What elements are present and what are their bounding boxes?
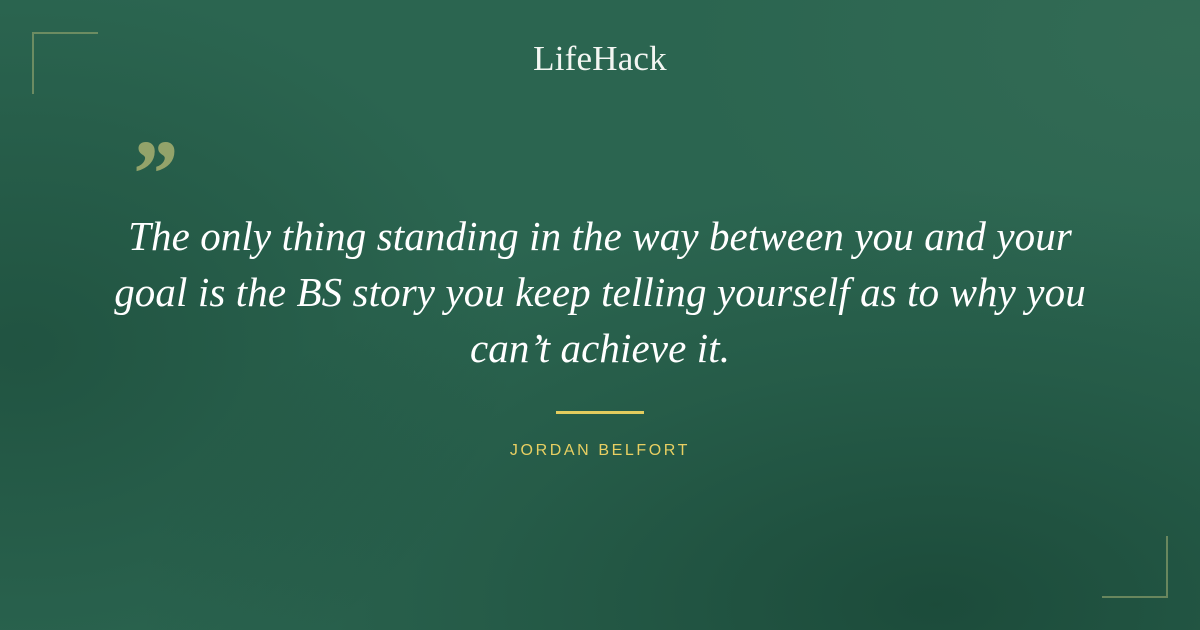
quote-line-2: goal is the BS story you keep telling yo… [100,264,1100,320]
quote-card: LifeHack ” The only thing standing in th… [0,0,1200,630]
brand-logo: LifeHack [0,41,1200,76]
attribution-divider [556,411,644,414]
quote-author: JORDAN BELFORT [0,440,1200,462]
quote-line-3: can’t achieve it. [100,320,1100,376]
corner-bracket-bottom-right-icon [1102,536,1168,598]
attribution-divider-wrap [0,411,1200,414]
quote-line-1: The only thing standing in the way betwe… [100,208,1100,264]
quote-block: The only thing standing in the way betwe… [100,208,1100,376]
